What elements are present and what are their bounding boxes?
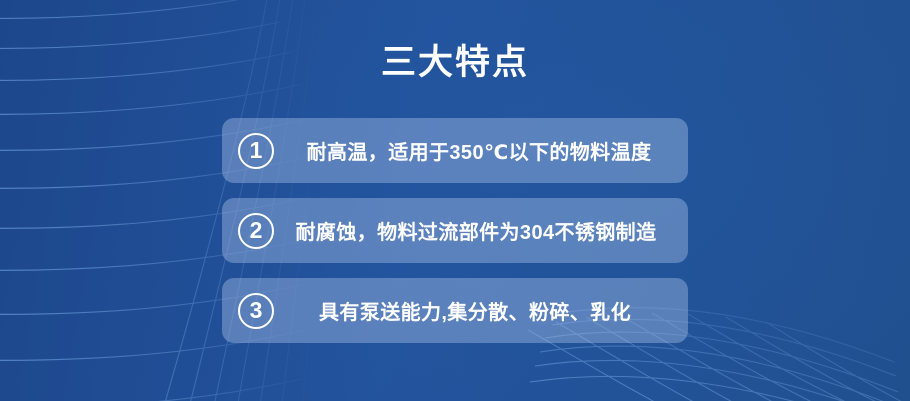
badge-number: 3 bbox=[250, 299, 263, 322]
page-title: 三大特点 bbox=[0, 41, 910, 85]
feature-text: 耐腐蚀，物料过流部件为304不锈钢制造 bbox=[274, 216, 688, 245]
badge-number: 1 bbox=[250, 139, 263, 162]
circled-number-icon: 3 bbox=[238, 293, 274, 329]
circled-number-icon: 1 bbox=[238, 133, 274, 169]
feature-slide: 三大特点 1 耐高温，适用于350℃以下的物料温度 2 耐腐蚀，物料过流部件为3… bbox=[0, 0, 910, 401]
circled-number-icon: 2 bbox=[238, 213, 274, 249]
feature-text: 具有泵送能力,集分散、粉碎、乳化 bbox=[274, 296, 688, 325]
list-item[interactable]: 1 耐高温，适用于350℃以下的物料温度 bbox=[222, 118, 688, 183]
feature-text: 耐高温，适用于350℃以下的物料温度 bbox=[274, 136, 688, 165]
badge-number: 2 bbox=[250, 219, 263, 242]
feature-list: 1 耐高温，适用于350℃以下的物料温度 2 耐腐蚀，物料过流部件为304不锈钢… bbox=[222, 118, 688, 343]
list-item[interactable]: 2 耐腐蚀，物料过流部件为304不锈钢制造 bbox=[222, 198, 688, 263]
list-item[interactable]: 3 具有泵送能力,集分散、粉碎、乳化 bbox=[222, 278, 688, 343]
